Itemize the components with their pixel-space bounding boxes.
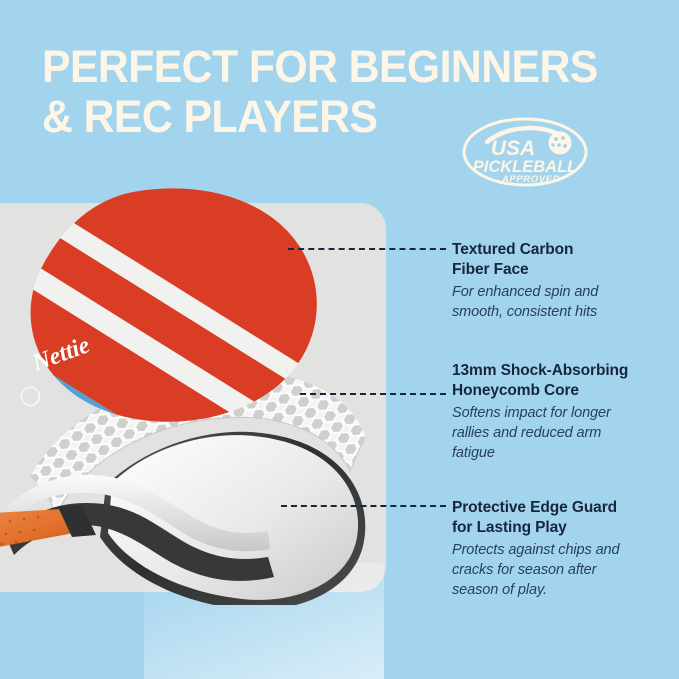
callout-honeycomb-core: 13mm Shock-Absorbing Honeycomb Core Soft…: [452, 361, 666, 463]
callout-body: Softens impact for longer rallies and re…: [452, 403, 666, 463]
leader-line-carbon-face: [288, 248, 446, 250]
callout-carbon-face: Textured Carbon Fiber Face For enhanced …: [452, 240, 666, 322]
callout-title: Protective Edge Guard for Lasting Play: [452, 498, 666, 537]
callout-body: For enhanced spin and smooth, consistent…: [452, 282, 666, 322]
callout-title: 13mm Shock-Absorbing Honeycomb Core: [452, 361, 666, 400]
badge-usa-text: USA: [491, 137, 535, 160]
leader-line-honeycomb-core: [300, 393, 446, 395]
leader-line-edge-guard: [281, 505, 446, 507]
badge-approved-text: APPROVED: [501, 174, 560, 185]
callout-edge-guard: Protective Edge Guard for Lasting Play P…: [452, 498, 666, 600]
infographic-canvas: PERFECT FOR BEGINNERS & REC PLAYERS USA …: [0, 0, 679, 679]
usa-pickleball-approved-badge: USA PICKLEBALL APPROVED: [461, 116, 589, 188]
pickleball-ball-icon: [549, 132, 572, 155]
callout-body: Protects against chips and cracks for se…: [452, 540, 666, 600]
callout-title: Textured Carbon Fiber Face: [452, 240, 666, 279]
